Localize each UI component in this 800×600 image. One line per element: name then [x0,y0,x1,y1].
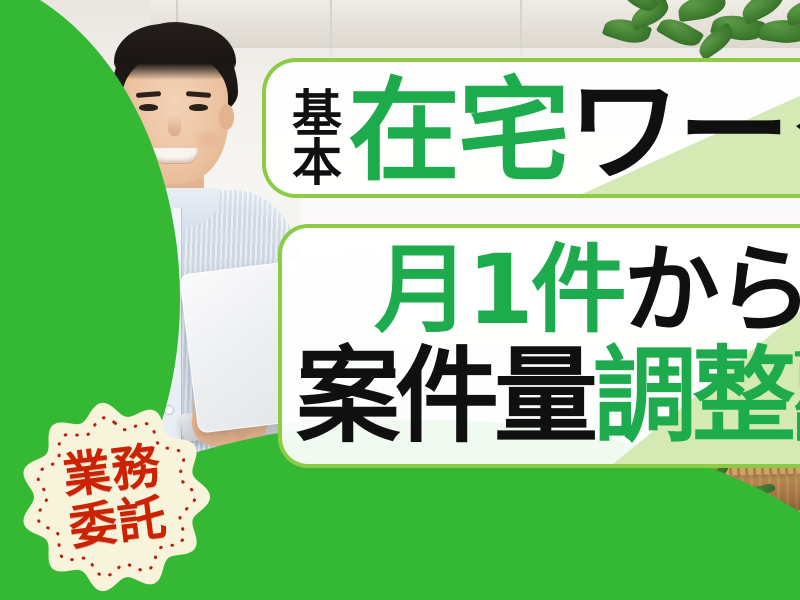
headline-banner-one: 基 本 在宅 ワーク [262,58,800,198]
nose [168,116,181,136]
headline-lead-ankenryou: 案件量 [296,344,593,448]
headline-rest-work: ワーク [568,76,800,188]
eye [189,104,208,111]
kihon-char-1: 基 [292,90,342,139]
eye [139,104,158,111]
cheek [198,134,218,146]
seal-shape [18,402,212,592]
hair-fringe [114,24,236,80]
headline-highlight-zaitaku: 在宅 [348,76,568,188]
wall-seam [330,0,332,60]
contract-type-seal-badge: 業務 委託 [18,402,212,592]
wall-seam [520,0,522,55]
headline-banner-two: 月1件 から 案件量 調整 可 能 [278,224,800,468]
headline-highlight-chousei: 調整 [593,344,791,448]
ear [219,104,234,130]
kanou-char-2: 能 [793,397,800,444]
headline-rest-kara: から [624,242,800,338]
headline-line-one-case-per-month: 月1件 から [374,242,800,338]
headline-suffix-kanou: 可 能 [793,350,800,448]
houseplant-top [600,0,800,62]
headline-prefix-kihon: 基 本 [292,90,342,188]
smiling-mouth [152,148,198,163]
kihon-char-2: 本 [292,139,342,188]
headline-line-workload-adjustable: 案件量 調整 可 能 [296,344,800,448]
recruitment-banner-ad: 基 本 在宅 ワーク 月1件 から 案件量 調整 可 能 業務 [0,0,800,600]
headline-line-basic-remote: 基 本 在宅 ワーク [292,76,800,188]
kanou-char-1: 可 [793,350,800,397]
headline-highlight-tsuki-ikken: 月1件 [374,242,624,338]
